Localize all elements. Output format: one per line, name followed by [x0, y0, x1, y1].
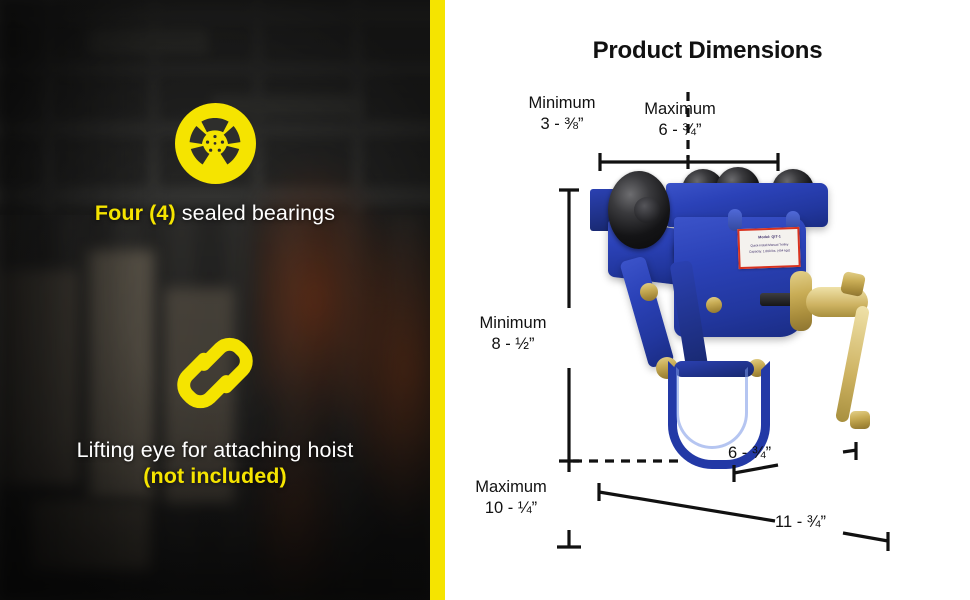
dim-label-width: 11 - ¾” — [775, 513, 826, 532]
dim-top-min-title: Minimum — [529, 94, 596, 112]
dim-top-max-title: Maximum — [644, 100, 716, 118]
dim-label-height-minimum: Minimum 8 - ½” — [433, 313, 593, 356]
infographic-page: Four (4) sealed bearings Lifting eye for… — [0, 0, 970, 600]
dim-height-max-title: Maximum — [475, 478, 547, 496]
wheel-bearing-icon — [175, 103, 256, 184]
left-feature-panel: Four (4) sealed bearings Lifting eye for… — [0, 0, 430, 600]
feature-list: Four (4) sealed bearings Lifting eye for… — [0, 0, 430, 600]
dim-label-height-maximum: Maximum 10 - ¼” — [431, 477, 591, 520]
dim-label-depth: 6 - ¾” — [728, 444, 771, 463]
feature-caption-highlight: Four (4) — [95, 201, 176, 225]
feature-caption-bearings: Four (4) sealed bearings — [0, 200, 430, 226]
feature-caption-plain: sealed bearings — [176, 201, 335, 225]
feature-caption-lifting-eye: Lifting eye for attaching hoist (not inc… — [0, 437, 430, 489]
bearing-icon-wrap — [0, 103, 430, 184]
feature-sealed-bearings: Four (4) sealed bearings — [0, 103, 430, 226]
dim-height-min-value: 8 - ½” — [491, 335, 534, 353]
dim-height-min-title: Minimum — [480, 314, 547, 332]
dim-label-top-maximum: Maximum 6 - ¾” — [615, 99, 745, 142]
feature-lifting-eye: Lifting eye for attaching hoist (not inc… — [0, 330, 430, 489]
dim-label-top-minimum: Minimum 3 - ⅜” — [497, 93, 627, 136]
chain-icon-wrap — [0, 330, 430, 416]
feature-caption-line2: (not included) — [143, 464, 287, 488]
dim-top-max-value: 6 - ¾” — [658, 121, 701, 139]
dim-height-max-value: 10 - ¼” — [485, 499, 537, 517]
right-dimensions-panel: Product Dimensions M — [445, 0, 970, 600]
dim-top-min-value: 3 - ⅜” — [540, 115, 583, 133]
chain-link-icon — [163, 330, 267, 416]
feature-caption-line1: Lifting eye for attaching hoist — [77, 438, 354, 462]
